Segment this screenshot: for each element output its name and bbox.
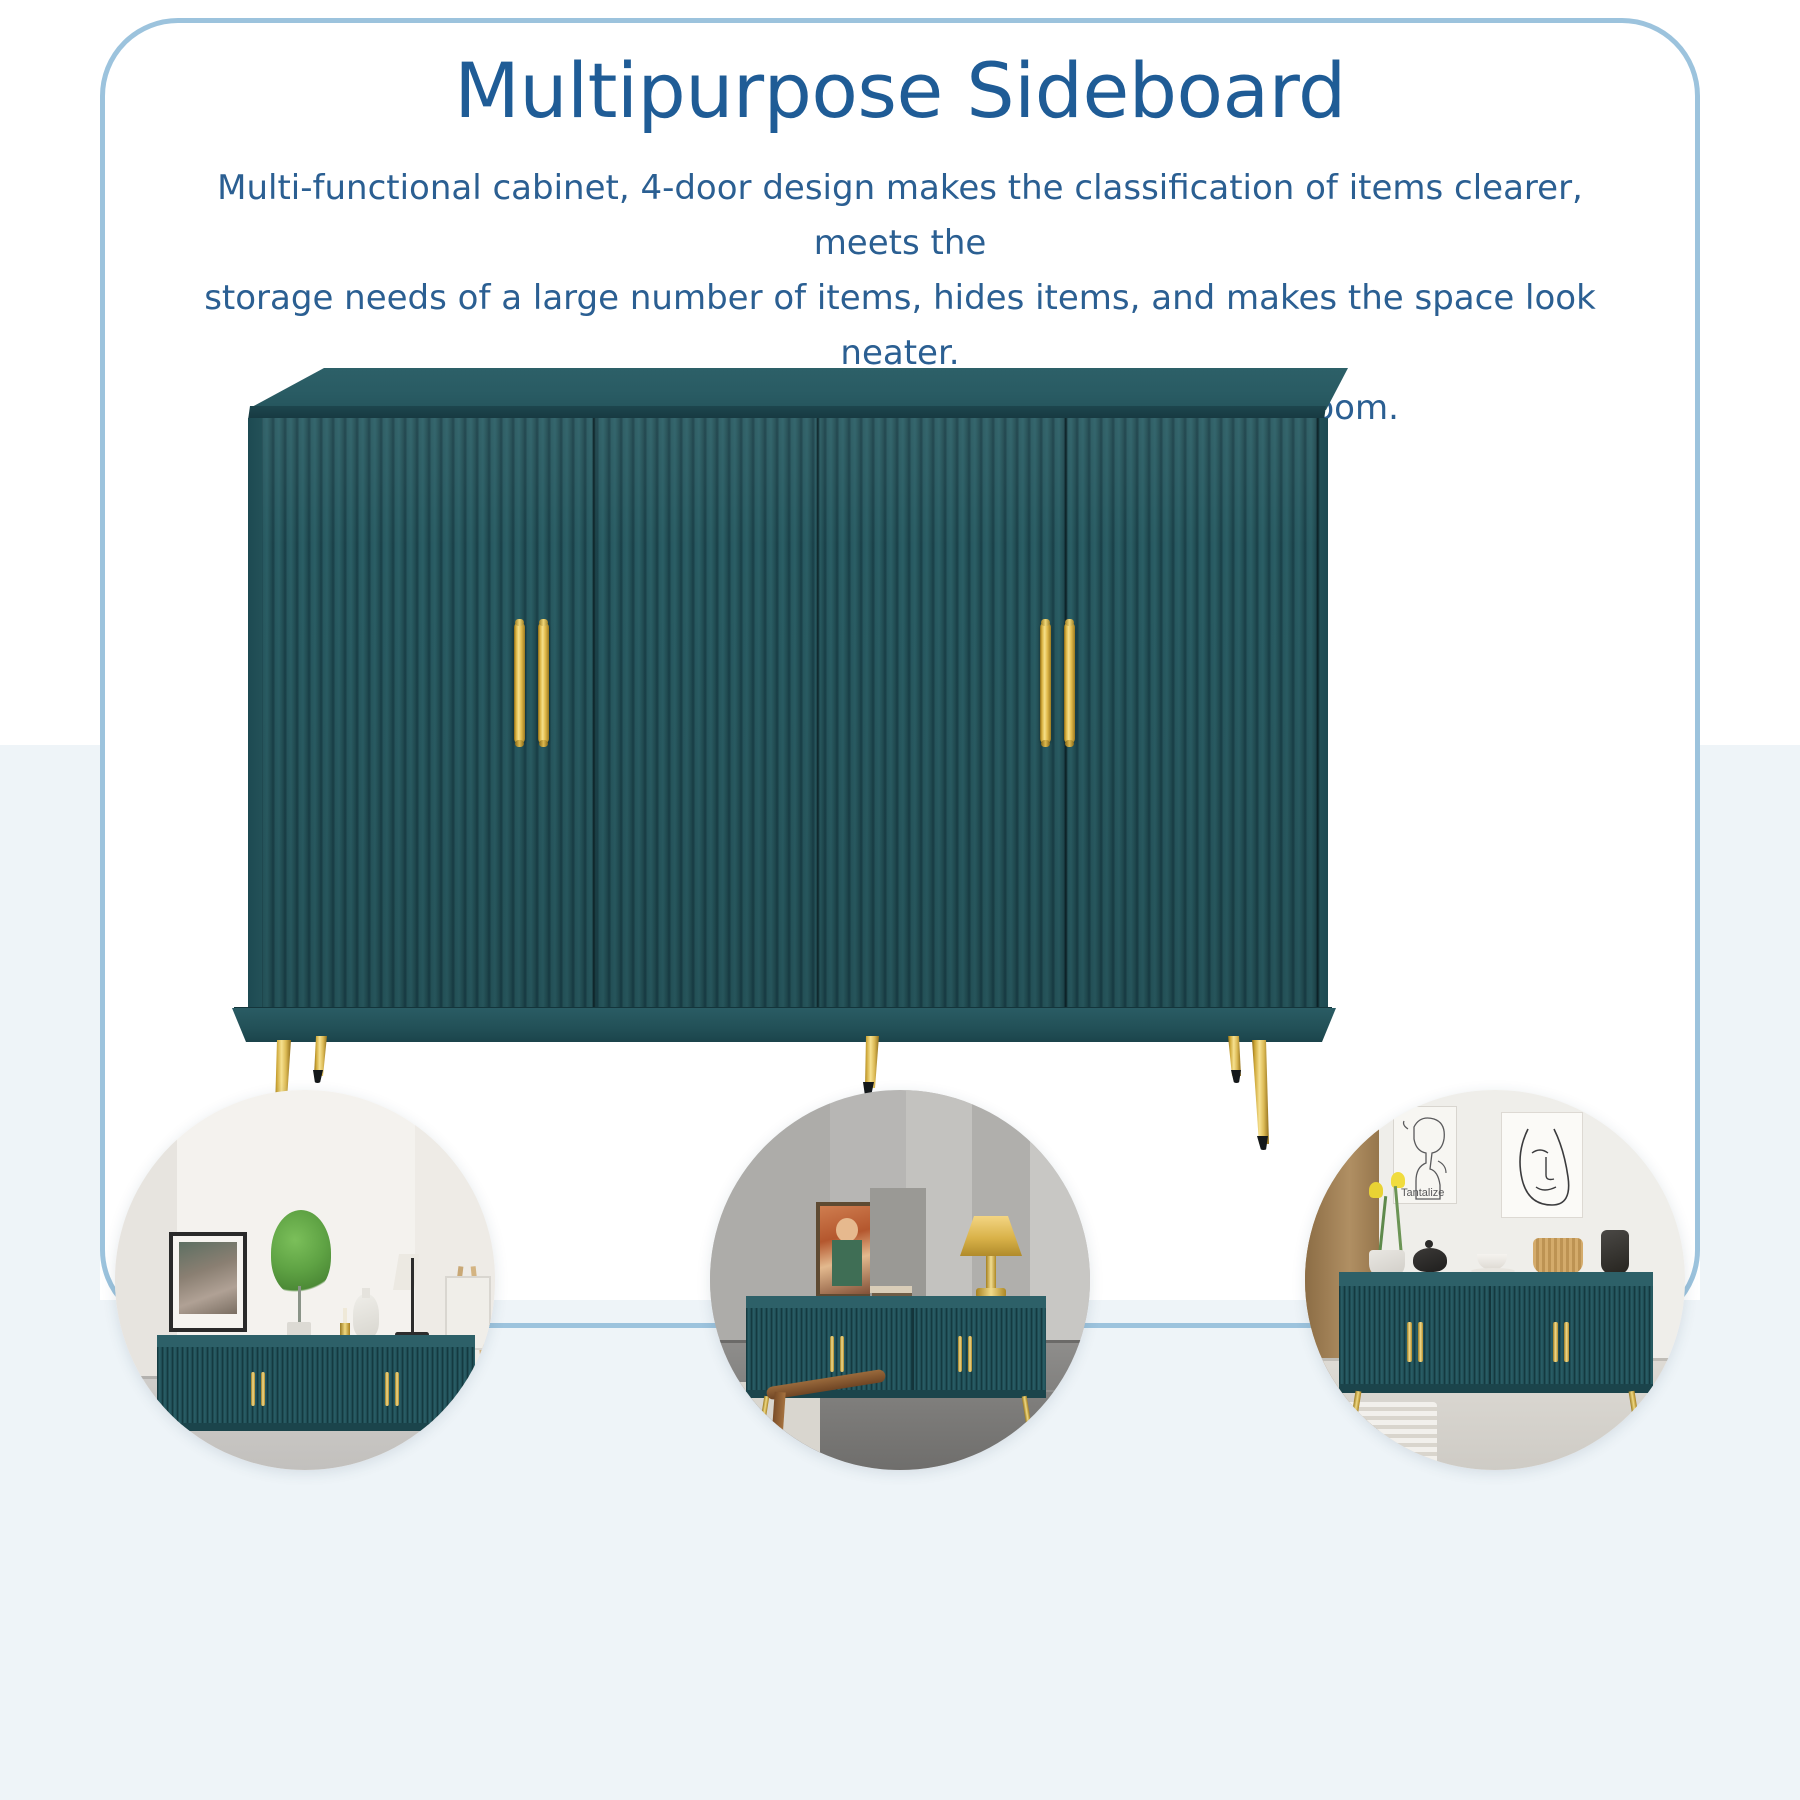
- photo3-cabinet-plinth: [1339, 1384, 1653, 1393]
- photo2-cabinet-flutes: [746, 1308, 1046, 1392]
- photo3-poster-tantalize: Tantalize: [1393, 1106, 1457, 1204]
- photo2-cabinet-handle-right-a: [958, 1336, 962, 1372]
- photo2-portrait-face: [836, 1218, 858, 1242]
- photo2-cabinet-body: [746, 1308, 1046, 1392]
- photo3-dark-jar: [1601, 1230, 1629, 1274]
- photo1-lamp-stem: [411, 1258, 414, 1336]
- lifestyle-photo-living-room[interactable]: [115, 1090, 495, 1470]
- description-line-2: storage needs of a large number of items…: [164, 271, 1636, 381]
- description-line-1: Multi-functional cabinet, 4-door design …: [164, 161, 1636, 271]
- page-title: Multipurpose Sideboard: [140, 48, 1660, 133]
- photo1-vase-neck: [362, 1288, 370, 1298]
- lifestyle-photo-dining-room[interactable]: Tantalize: [1305, 1090, 1685, 1470]
- photo1-cabinet-flutes: [157, 1347, 475, 1425]
- photo3-basket: [1533, 1238, 1583, 1274]
- cabinet-top-surface: [228, 368, 1348, 416]
- photo2-book-1: [870, 1286, 912, 1293]
- photo2-portrait-dress: [832, 1240, 862, 1286]
- photo3-cabinet-door-seam: [1489, 1286, 1491, 1386]
- cabinet-left-side-panel: [248, 418, 262, 1010]
- photo3-teapot: [1413, 1248, 1447, 1272]
- photo1-cabinet-handle-right-b: [395, 1372, 399, 1406]
- photo2-cabinet-door-seam: [912, 1308, 914, 1392]
- photo1-cabinet-body: [157, 1347, 475, 1425]
- photo3-cabinet-flutes: [1339, 1286, 1653, 1386]
- photo3-cabinet-handle-left-a: [1407, 1322, 1412, 1362]
- door-seam-2: [816, 418, 820, 1010]
- leg-center-rear: [864, 1036, 879, 1088]
- leg-tip-rear-right: [1231, 1070, 1242, 1083]
- photo1-cabinet-handle-left-b: [261, 1372, 265, 1406]
- hero-product-image: [228, 368, 1348, 1138]
- photo1-cabinet-handle-right-a: [385, 1372, 389, 1406]
- photo2-leaning-board: [870, 1188, 926, 1300]
- photo3-cabinet-handle-right-b: [1564, 1322, 1569, 1362]
- line-art-face-icon: [1502, 1113, 1584, 1219]
- door-seam-1: [592, 418, 596, 1010]
- photo2-cabinet-handle-right-b: [968, 1336, 972, 1372]
- photo2-chair-seat: [710, 1420, 770, 1470]
- photo3-cabinet-body: [1339, 1286, 1653, 1386]
- photo3-teapot-lid: [1425, 1240, 1433, 1248]
- photo1-cabinet-plinth: [157, 1423, 475, 1431]
- photo3-tulip-1: [1369, 1182, 1383, 1198]
- cabinet-right-edge-seam: [1316, 418, 1320, 1010]
- door-handle-left-outer[interactable]: [538, 622, 549, 744]
- lifestyle-photo-entryway[interactable]: [710, 1090, 1090, 1470]
- photo1-plant-foliage: [271, 1210, 331, 1296]
- photo1-picture-art: [179, 1242, 237, 1314]
- photo3-rug: [1305, 1402, 1437, 1470]
- photo3-cabinet-handle-left-b: [1418, 1322, 1423, 1362]
- cabinet-shading: [248, 418, 1328, 1010]
- poster-label-tantalize: Tantalize: [1401, 1187, 1444, 1199]
- photo3-poster-face: [1501, 1112, 1583, 1218]
- door-handle-left-inner[interactable]: [514, 622, 525, 744]
- leg-front-right: [1252, 1040, 1269, 1144]
- photo1-ceramic-vase: [353, 1294, 379, 1338]
- photo2-cabinet-handle-left-b: [840, 1336, 844, 1372]
- cabinet-body: [248, 418, 1328, 1010]
- photo2-lamp-stem: [986, 1256, 996, 1290]
- door-handle-right-inner[interactable]: [1040, 622, 1051, 744]
- photo2-cabinet-handle-left-a: [830, 1336, 834, 1372]
- door-handle-right-outer[interactable]: [1064, 622, 1075, 744]
- photo1-candle: [343, 1308, 347, 1324]
- photo3-cabinet-handle-right-a: [1553, 1322, 1558, 1362]
- cabinet-plinth: [232, 1008, 1336, 1042]
- photo1-cabinet-handle-left-a: [251, 1372, 255, 1406]
- leg-tip-rear-left: [312, 1070, 323, 1083]
